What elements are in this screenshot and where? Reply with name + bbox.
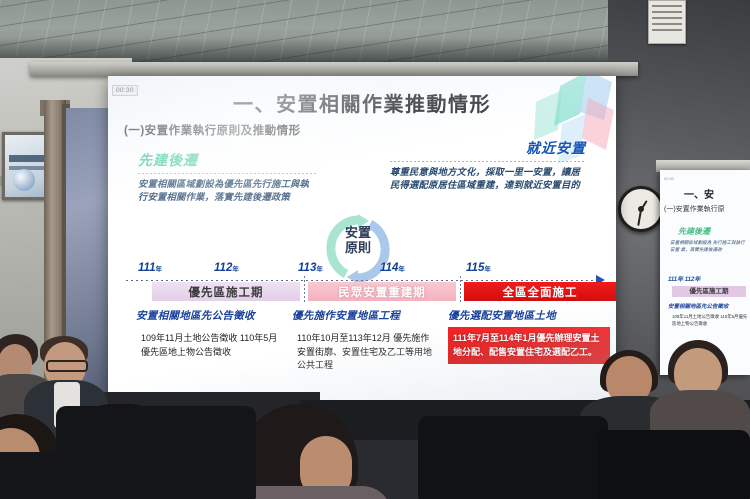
person-body <box>222 486 392 499</box>
person-strap <box>156 476 188 499</box>
secondary-phase-bar: 優先區施工期 <box>672 286 746 297</box>
principle-right-rule <box>390 161 586 162</box>
principle-left-heading: 先建後遷 <box>138 150 318 170</box>
conference-room: 00:30 一、安 (一)安置作業執行原 先建後遷 安置相關區域劃設為 先行施工… <box>0 0 750 499</box>
year-label-115: 115年 <box>466 262 491 274</box>
detail-box-3-body: 111年7月至114年1月優先辦理安置土地分配、配售安置住宅及選配乙工。 <box>448 327 610 364</box>
year-112-unit: 年 <box>232 266 239 273</box>
slide-page-number: 4 <box>606 402 610 411</box>
year-113-unit: 年 <box>316 266 323 273</box>
glasses-icon <box>92 452 160 474</box>
person-head <box>0 428 40 499</box>
year-label-112: 112年 <box>214 262 239 274</box>
year-111-number: 111 <box>138 262 155 274</box>
wall-notice <box>648 0 686 44</box>
projector-screen-valance <box>30 62 638 76</box>
person-hair <box>240 404 358 499</box>
year-label-111: 111年 <box>138 262 162 274</box>
wall-clock-icon <box>618 186 664 232</box>
timeline-phase-bars: 優先區施工期 民眾安置重建期 全區全面施工 <box>118 282 610 301</box>
phase-bar-3: 全區全面施工 <box>464 282 616 301</box>
phase-divider-2 <box>460 276 461 302</box>
secondary-green-heading: 先建後遷 <box>678 226 710 237</box>
secondary-text: 109年11月土地公告徵收 110年5月優先區地上物公告徵收 <box>672 314 748 327</box>
secondary-projection-screen: 00:30 一、安 (一)安置作業執行原 先建後遷 安置相關區域劃設為 先行施工… <box>660 170 750 375</box>
year-115-unit: 年 <box>484 266 491 273</box>
detail-box-2: 優先施作安置地區工程 110年10月至113年12月 優先施作安置街廓、安置住宅… <box>292 308 442 406</box>
chair-left <box>0 452 110 499</box>
secondary-timer: 00:30 <box>664 176 674 181</box>
principle-left-body: 安置相關區域劃設為優先區先行施工與執行安置相關作業，落實先建後遷政策 <box>138 178 318 205</box>
person-lanyard <box>44 477 68 499</box>
secondary-blue-line: 安置相關地區先公告徵收 <box>668 302 729 310</box>
clock-minute-hand <box>637 210 642 226</box>
detail-box-3: 優先選配安置地區土地 111年7月至114年1月優先辦理安置土地分配、配售安置住… <box>448 308 610 406</box>
slide-title: 一、安置相關作業推動情形 <box>108 88 616 117</box>
principle-left-rule <box>138 173 318 174</box>
circle-label-line-1: 安置 <box>345 225 371 240</box>
secondary-years: 111年 112年 <box>668 274 700 283</box>
detail-box-1: 安置相關地區先公告徵收 109年11月土地公告徵收 110年5月優先區地上物公告… <box>136 308 286 406</box>
phase-bar-1: 優先區施工期 <box>152 282 300 301</box>
principle-circle-label: 安置 原則 <box>322 226 394 256</box>
person-strap <box>58 476 92 499</box>
year-label-113: 113年 <box>298 262 323 274</box>
principle-right-heading: 就近安置 <box>390 138 586 158</box>
principle-right-body: 尊重民意與地方文化，採取一里一安置，讓居民得選配原居住區域重建，達到就近安置目的 <box>390 166 586 193</box>
circle-label-line-2: 原則 <box>345 240 371 255</box>
year-114-number: 114 <box>380 262 398 274</box>
principles-row: 先建後遷 安置相關區域劃設為優先區先行施工與執行安置相關作業，落實先建後遷政策 … <box>118 150 610 258</box>
principle-right: 就近安置 尊重民意與地方文化，採取一里一安置，讓居民得選配原居住區域重建，達到就… <box>390 138 586 193</box>
secondary-phase-label: 優先區施工期 <box>672 286 746 297</box>
principle-left: 先建後遷 安置相關區域劃設為優先區先行施工與執行安置相關作業，落實先建後遷政策 <box>138 150 318 205</box>
detail-box-3-heading: 優先選配安置地區土地 <box>448 308 610 323</box>
phase-bar-2: 民眾安置重建期 <box>308 282 456 301</box>
secondary-title: 一、安 <box>684 186 714 201</box>
detail-box-1-body: 109年11月土地公告徵收 110年5月優先區地上物公告徵收 <box>136 327 286 364</box>
detail-boxes: 安置相關地區先公告徵收 109年11月土地公告徵收 110年5月優先區地上物公告… <box>118 308 610 408</box>
detail-box-2-body: 110年10月至113年12月 優先施作安置街廓、安置住宅及乙工等用地公共工程 <box>292 327 442 378</box>
detail-box-2-heading: 優先施作安置地區工程 <box>292 308 442 323</box>
phase-divider-1 <box>304 276 305 302</box>
person-body <box>0 470 60 499</box>
detail-box-1-heading: 安置相關地區先公告徵收 <box>136 308 286 323</box>
secondary-subtitle: (一)安置作業執行原 <box>664 204 725 214</box>
timeline-years: 111年 112年 113年 114年 115年 <box>118 262 610 280</box>
secondary-body: 安置相關區域劃設為 先行施工與執行安置 業，落實先建後遷政 <box>670 240 748 254</box>
person-head <box>80 418 166 499</box>
clock-center-pin <box>638 206 644 212</box>
year-115-number: 115 <box>466 262 484 274</box>
person-lanyard <box>178 477 201 499</box>
chair-far-right <box>598 430 750 499</box>
timeline-axis <box>126 280 598 281</box>
person-face-side <box>300 436 352 499</box>
year-114-unit: 年 <box>398 266 405 273</box>
projection-screen: 00:30 一、安置相關作業推動情形 (一)安置作業執行原則及推動情形 先建後遷… <box>108 76 616 414</box>
year-113-number: 113 <box>298 262 316 274</box>
year-label-114: 114年 <box>380 262 405 274</box>
year-112-number: 112 <box>214 262 232 274</box>
person-body <box>30 478 220 499</box>
chair-right <box>418 416 608 499</box>
slide-subtitle: (一)安置作業執行原則及推動情形 <box>124 122 301 138</box>
year-111-unit: 年 <box>155 266 162 273</box>
